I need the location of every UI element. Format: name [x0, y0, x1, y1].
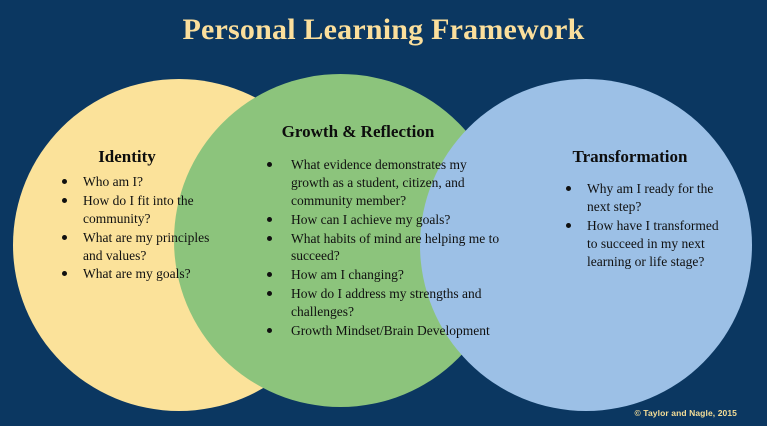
transformation-heading: Transformation — [540, 148, 720, 167]
list-item: How do I fit into the community? — [58, 192, 220, 228]
identity-text-block: Identity Who am I? How do I fit into the… — [40, 148, 220, 284]
list-item: What are my principles and values? — [58, 229, 220, 265]
copyright-credit: © Taylor and Nagle, 2015 — [634, 408, 737, 418]
list-item: How can I achieve my goals? — [260, 211, 508, 229]
list-item: How do I address my strengths and challe… — [260, 285, 508, 321]
list-item: What are my goals? — [58, 265, 220, 283]
growth-reflection-heading: Growth & Reflection — [240, 123, 476, 142]
identity-bullet-list: Who am I? How do I fit into the communit… — [58, 173, 220, 284]
list-item: How am I changing? — [260, 266, 508, 284]
page-title: Personal Learning Framework — [0, 13, 767, 48]
list-item: Who am I? — [58, 173, 220, 191]
list-item: Growth Mindset/Brain Development — [260, 322, 508, 340]
list-item: What evidence demonstrates my growth as … — [260, 156, 508, 210]
list-item: How have I transformed to succeed in my … — [562, 217, 730, 271]
list-item: What habits of mind are helping me to su… — [260, 230, 508, 266]
slide-canvas: Personal Learning Framework Identity Who… — [0, 0, 767, 426]
transformation-bullet-list: Why am I ready for the next step? How ha… — [562, 180, 730, 271]
list-item: Why am I ready for the next step? — [562, 180, 730, 216]
identity-heading: Identity — [34, 148, 220, 167]
transformation-text-block: Transformation Why am I ready for the ne… — [540, 148, 730, 271]
growth-reflection-text-block: Growth & Reflection What evidence demons… — [240, 123, 508, 341]
growth-reflection-bullet-list: What evidence demonstrates my growth as … — [260, 156, 508, 341]
